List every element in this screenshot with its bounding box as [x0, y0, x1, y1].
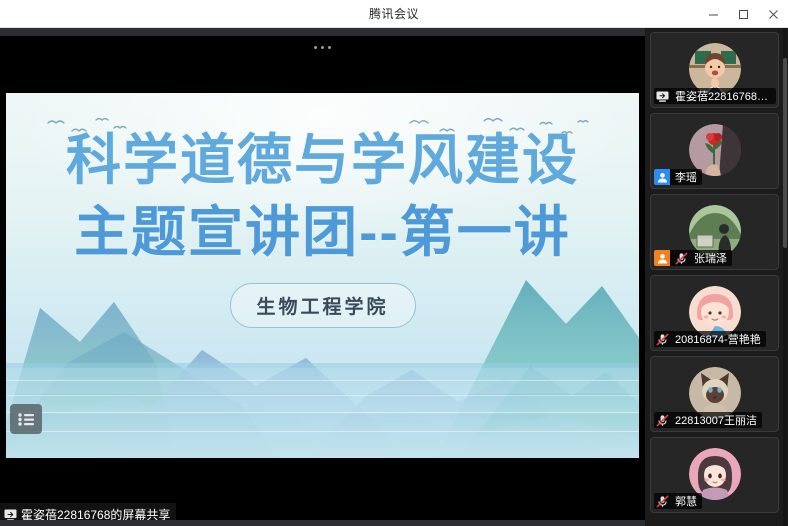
water-reflection [6, 363, 639, 458]
presentation-slide: 科学道德与学风建设 主题宣讲团--第一讲 生物工程学院 [6, 93, 639, 458]
window-controls [698, 0, 788, 28]
dot-2 [321, 46, 324, 49]
water-line-1 [6, 380, 639, 381]
participant-tile[interactable]: 郭慧 [650, 437, 779, 513]
mic-muted-icon [654, 412, 670, 428]
person-icon [654, 169, 670, 185]
participant-tile[interactable]: 20816874-营艳艳 [650, 275, 779, 351]
water-line-4 [6, 431, 639, 432]
stage-bottom-strip [0, 520, 645, 526]
dot-3 [328, 46, 331, 49]
tencent-meeting-window: 腾讯会议 [0, 0, 788, 526]
participant-tile[interactable]: 霍姿蓓22816768的屏幕... [650, 32, 779, 108]
participant-name: 22813007王丽洁 [673, 412, 757, 428]
minimize-button[interactable] [698, 0, 728, 28]
participant-name: 张瑞泽 [692, 250, 727, 266]
participant-tile[interactable]: 张瑞泽 [650, 194, 779, 270]
slide-title-line-1: 科学道德与学风建设 [6, 133, 639, 188]
water-line-3 [6, 412, 639, 413]
stage-top-strip [0, 28, 645, 36]
participant-name: 郭慧 [673, 493, 697, 509]
participant-tile[interactable]: 李瑶 [650, 113, 779, 189]
rail-scrollbar-thumb[interactable] [783, 58, 787, 248]
participant-label: 22813007王丽洁 [654, 412, 762, 428]
participant-tile[interactable]: 22813007王丽洁 [650, 356, 779, 432]
mic-muted-icon [673, 250, 689, 266]
shared-screen-stage[interactable]: 科学道德与学风建设 主题宣讲团--第一讲 生物工程学院 [0, 28, 645, 526]
screen-share-icon [4, 509, 17, 521]
water-line-2 [6, 395, 639, 396]
participant-label: 李瑶 [654, 169, 702, 185]
list-menu-icon[interactable] [10, 404, 42, 434]
screen-share-icon [654, 88, 670, 104]
participant-label: 郭慧 [654, 493, 702, 509]
participant-rail[interactable]: 霍姿蓓22816768的屏幕... [645, 28, 788, 526]
close-button[interactable] [758, 0, 788, 28]
maximize-button[interactable] [728, 0, 758, 28]
participant-name: 霍姿蓓22816768的屏幕... [673, 88, 771, 104]
window-titlebar: 腾讯会议 [0, 0, 788, 28]
participant-label: 霍姿蓓22816768的屏幕... [654, 88, 776, 104]
mic-muted-icon [654, 331, 670, 347]
more-options-button[interactable] [0, 36, 645, 58]
mic-muted-icon [654, 493, 670, 509]
participant-label: 20816874-营艳艳 [654, 331, 766, 347]
window-title: 腾讯会议 [0, 0, 788, 28]
participant-name: 李瑶 [673, 169, 697, 185]
dot-1 [314, 46, 317, 49]
participant-label: 张瑞泽 [654, 250, 732, 266]
slide-title-line-2: 主题宣讲团--第一讲 [6, 205, 639, 260]
person-icon [654, 250, 670, 266]
slide-department-pill: 生物工程学院 [229, 283, 415, 328]
participant-name: 20816874-营艳艳 [673, 331, 761, 347]
